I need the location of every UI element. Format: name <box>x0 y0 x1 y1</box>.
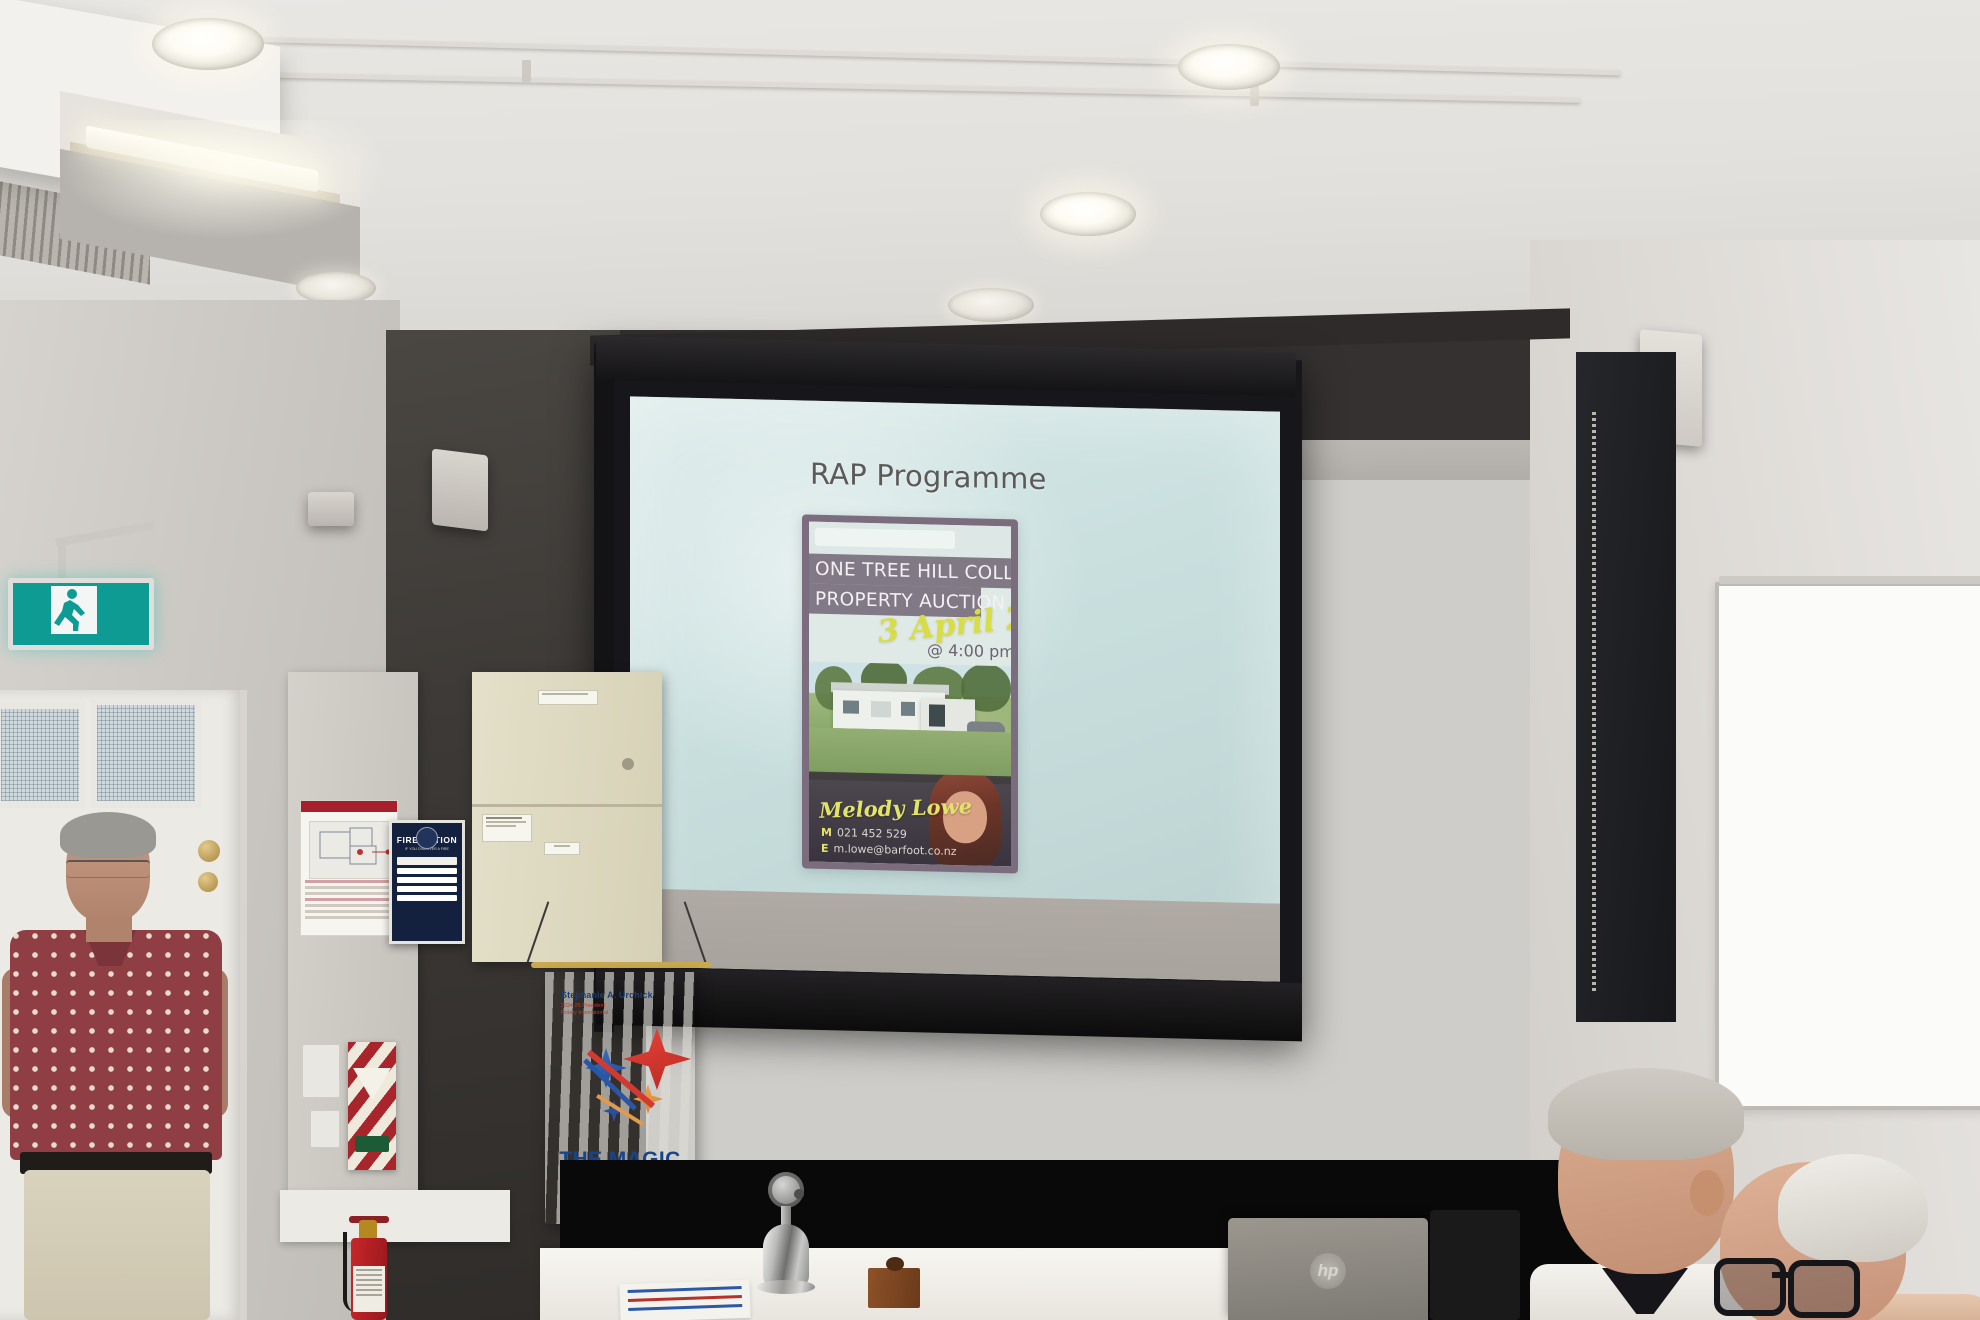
man-glasses <box>66 860 150 878</box>
auction-poster: ONE TREE HILL COLLEGE PROPERTY AUCTION 3… <box>802 514 1018 873</box>
bell-dome <box>763 1224 809 1286</box>
wall-ledge <box>280 1190 510 1242</box>
light-switch[interactable] <box>302 1044 340 1098</box>
cabinet-door-seam <box>472 804 662 807</box>
chair-back <box>1430 1210 1520 1320</box>
conduit-bracket-2 <box>522 60 531 82</box>
ceiling-downlight-2 <box>1178 44 1280 90</box>
meeting-room-photo: RAP Programme ONE TREE HILL COLLEGE PROP… <box>0 0 1980 1320</box>
poster-time: @ 4:00 pm <box>927 640 1015 661</box>
rotary-bell[interactable] <box>755 1168 817 1320</box>
cabinet-latch[interactable] <box>622 758 634 770</box>
standing-man <box>8 818 223 1320</box>
whiteboard-tray <box>1719 576 1980 584</box>
fire-point-hazard-sign <box>348 1042 396 1170</box>
exit-sign <box>8 578 154 650</box>
hp-logo-icon: hp <box>1310 1253 1346 1289</box>
light-spill <box>60 120 390 240</box>
cabinet-info-label <box>482 814 532 842</box>
agent-mobile: M021 452 529 <box>821 826 907 841</box>
poster-agent-strip: Melody Lowe M021 452 529 Em.lowe@barfoot… <box>809 772 1011 867</box>
fire-point-label <box>355 1136 389 1152</box>
fire-action-sign: FIRE ACTION IF YOU DISCOVER A FIRE <box>389 820 465 944</box>
slide-title: RAP Programme <box>810 457 1047 497</box>
mobile-label: M <box>821 826 832 839</box>
window-blind <box>1576 352 1676 1022</box>
agent-name: Melody Lowe <box>818 793 972 822</box>
poster-top-white-tab <box>815 528 955 549</box>
banner-star-red <box>623 1028 691 1090</box>
wall-speaker-mid <box>308 492 354 526</box>
fire-action-row <box>397 886 457 892</box>
notice-line <box>305 892 393 895</box>
agent-email: Em.lowe@barfoot.co.nz <box>821 842 957 858</box>
rotary-wheel-icon-bell <box>768 1172 804 1208</box>
door-window-left <box>0 702 86 808</box>
banner-president-name: Stephanie A. Urchick <box>561 990 653 1000</box>
notice-line <box>305 880 393 883</box>
wheel-hub <box>794 1189 804 1199</box>
fire-action-row <box>397 877 457 883</box>
banner-rod <box>531 962 711 968</box>
fire-action-row <box>397 868 457 874</box>
banner-president-role-2: Rotary International <box>561 1010 608 1017</box>
bell-lip <box>757 1280 815 1294</box>
electrical-cabinet[interactable] <box>472 672 662 962</box>
glasses-lens-left <box>1714 1258 1786 1316</box>
notice-line <box>305 910 393 913</box>
man-hair <box>60 812 156 858</box>
notice-line <box>305 916 393 919</box>
projected-slide: RAP Programme ONE TREE HILL COLLEGE PROP… <box>630 396 1280 981</box>
poster-house-photo <box>809 662 1011 785</box>
email-label: E <box>821 842 829 855</box>
fire-extinguisher <box>345 1208 391 1320</box>
ceiling-downlight-5 <box>948 288 1034 322</box>
exit-running-man-icon <box>45 586 97 634</box>
man-trousers <box>24 1170 210 1320</box>
seated-man-2 <box>1700 1162 1980 1320</box>
seated-man-2-glasses <box>1714 1258 1864 1306</box>
ceiling-downlight-3 <box>1040 192 1136 236</box>
mobile-value: 021 452 529 <box>837 826 907 841</box>
cabinet-bottom-label <box>544 842 580 855</box>
notice-line <box>305 886 393 889</box>
fire-action-field <box>397 857 457 865</box>
fire-action-row <box>397 895 457 901</box>
screen-lower-band <box>630 888 1280 981</box>
ceiling-downlight-1 <box>152 18 264 70</box>
whiteboard <box>1715 582 1980 1110</box>
notice-header <box>301 801 397 812</box>
hp-laptop[interactable]: hp <box>1228 1218 1428 1320</box>
door-window-right <box>90 698 202 808</box>
seated-man-2-hair <box>1778 1154 1928 1262</box>
banner-president-role-1: 2024-25 President <box>561 1003 605 1010</box>
seated-man-1-hair <box>1548 1068 1744 1160</box>
evacuation-floor-plan <box>309 821 397 879</box>
poster-line-college: ONE TREE HILL COLLEGE <box>809 554 1011 589</box>
power-socket[interactable] <box>310 1110 340 1148</box>
evacuation-notice <box>300 800 398 936</box>
glasses-lens-right <box>1788 1260 1860 1318</box>
extinguisher-label <box>353 1266 385 1312</box>
gavel-knob <box>886 1257 904 1271</box>
gavel-block[interactable] <box>868 1268 920 1308</box>
blind-chain[interactable] <box>1592 412 1596 992</box>
fire-point-triangle-icon <box>353 1068 391 1100</box>
notice-line <box>305 898 393 901</box>
email-value: m.lowe@barfoot.co.nz <box>834 842 957 858</box>
cabinet-top-label <box>538 690 598 705</box>
meeting-papers[interactable] <box>619 1280 750 1320</box>
glasses-bridge <box>1772 1272 1792 1278</box>
fire-emblem-icon <box>416 827 438 849</box>
wall-speaker-left <box>432 449 488 532</box>
notice-line <box>305 904 393 907</box>
exit-sign-bracket <box>58 538 66 580</box>
